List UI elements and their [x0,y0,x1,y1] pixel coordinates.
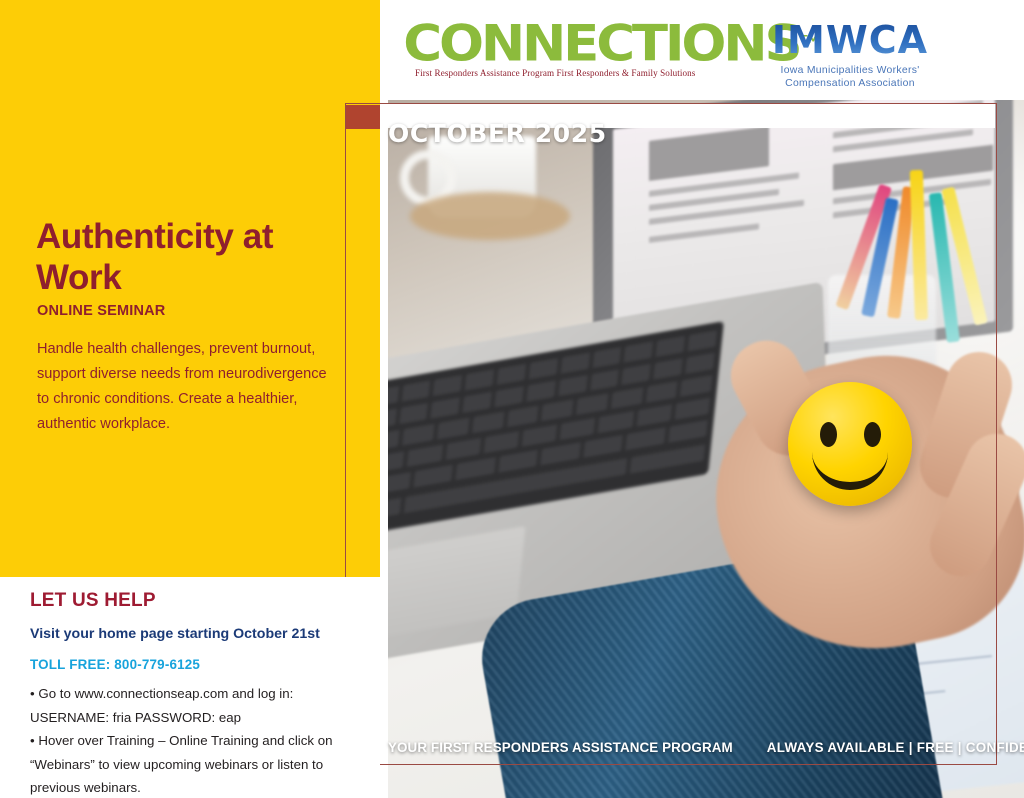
mug-coaster [410,192,570,240]
feature-body: Handle health challenges, prevent burnou… [37,337,337,437]
hero-photo [388,100,1024,798]
hero-footer-attributes: ALWAYS AVAILABLE | FREE | CONFIDENTIAL [767,740,1024,755]
help-step-2c: previous webinars. [30,776,355,798]
imwca-subline-2: Compensation Association [752,77,948,90]
laptop-keyboard [388,321,724,542]
feature-kicker: ONLINE SEMINAR [37,303,357,319]
accent-red-block [345,105,380,129]
help-title: LET US HELP [30,590,156,612]
connections-logo: CONNECTIONSTM First Responders Assistanc… [415,14,690,92]
help-step-2b: “Webinars” to view upcoming webinars or … [30,753,355,777]
hero-scene [388,100,1024,798]
let-us-help-section: LET US HELP Visit your home page startin… [0,577,380,798]
help-toll-free[interactable]: TOLL FREE: 800-779-6125 [30,657,200,672]
hero-footer: YOUR FIRST RESPONDERS ASSISTANCE PROGRAM… [388,734,1024,760]
feature-title: Authenticity at Work [36,216,356,298]
newsletter-page: Authenticity at Work ONLINE SEMINAR Hand… [0,0,1024,798]
help-steps: • Go to www.connectionseap.com and log i… [30,682,355,798]
help-subtitle: Visit your home page starting October 21… [30,626,360,642]
imwca-subline-1: Iowa Municipalities Workers' [752,64,948,77]
help-step-1: • Go to www.connectionseap.com and log i… [30,682,355,706]
smiley-mouth [812,438,888,490]
issue-date: OCTOBER 2025 [388,119,607,148]
hero-footer-program: YOUR FIRST RESPONDERS ASSISTANCE PROGRAM [388,740,733,755]
help-step-2a: • Hover over Training – Online Training … [30,729,355,753]
imwca-logo: IMWCA Iowa Municipalities Workers' Compe… [752,20,948,90]
connections-wordmark-text: CONNECTIONS [403,15,799,73]
help-step-credentials: USERNAME: fria PASSWORD: eap [30,706,355,730]
smiley-stress-ball [788,382,912,506]
imwca-wordmark: IMWCA [752,20,948,60]
